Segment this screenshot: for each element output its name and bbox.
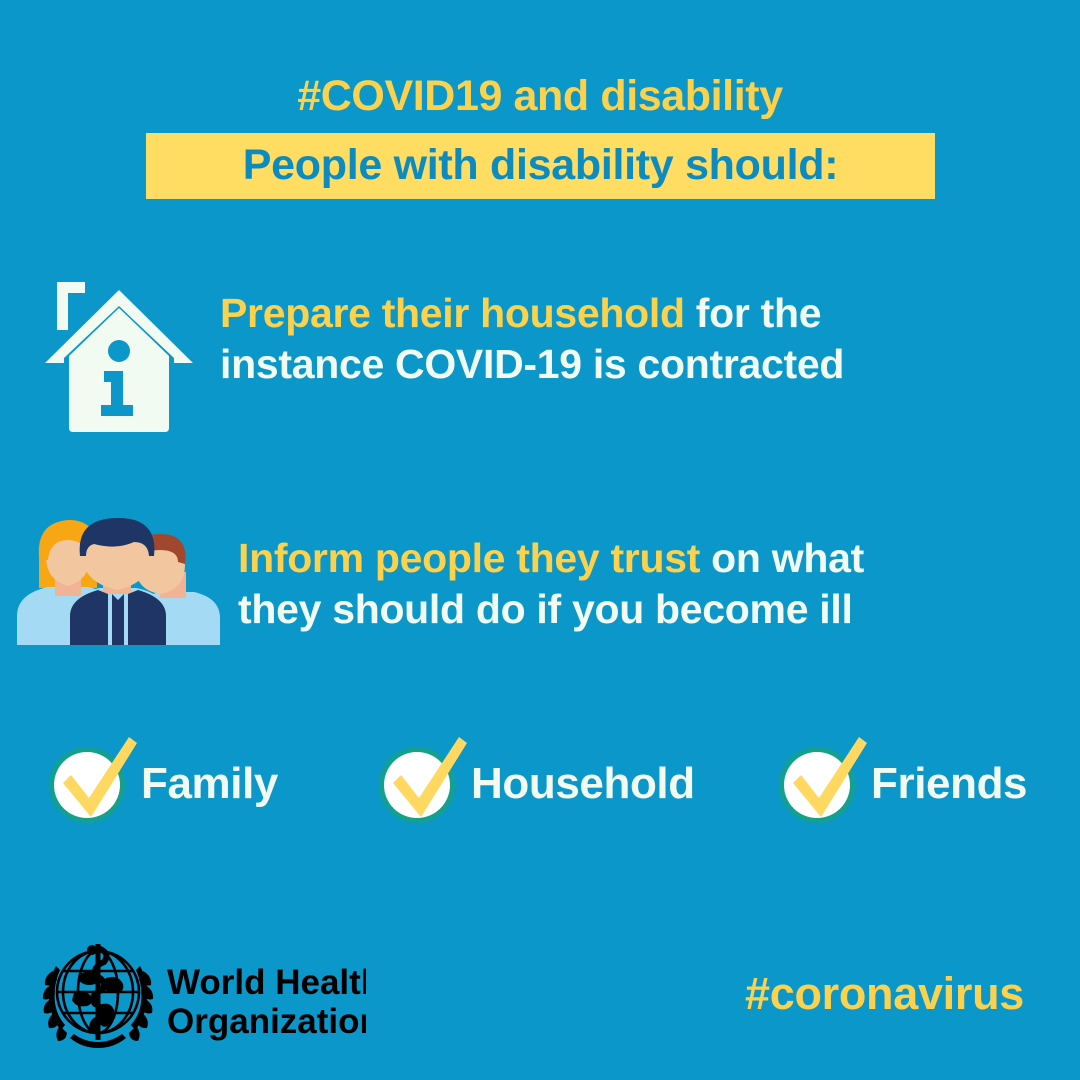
message-rest-household: for the xyxy=(685,290,822,336)
checklist-item-friends: Friends xyxy=(775,728,1027,833)
checklist-label-friends: Friends xyxy=(871,759,1027,809)
message-highlight-household: Prepare their household xyxy=(220,290,685,336)
subtitle-banner: People with disability should: xyxy=(146,133,935,199)
message-text-inform: Inform people they trust on what they sh… xyxy=(238,533,864,635)
check-circle-icon xyxy=(45,735,137,827)
who-logo: World Health Organization xyxy=(36,938,366,1050)
house-info-icon xyxy=(43,268,195,436)
checklist-label-household: Household xyxy=(471,759,695,809)
message-rest-inform: on what xyxy=(700,535,864,581)
who-logo-line1: World Health xyxy=(167,963,366,1002)
hashtag-coronavirus: #coronavirus xyxy=(745,968,1024,1020)
checklist: Family Household Friends xyxy=(0,728,1080,833)
group-of-people-icon xyxy=(8,508,223,645)
checklist-item-household: Household xyxy=(375,728,695,833)
checklist-item-family: Family xyxy=(45,728,278,833)
message-line2-inform: they should do if you become ill xyxy=(238,586,853,632)
subtitle-text: People with disability should: xyxy=(146,133,935,199)
check-circle-icon xyxy=(775,735,867,827)
message-line2-household: instance COVID-19 is contracted xyxy=(220,341,844,387)
checklist-label-family: Family xyxy=(141,759,278,809)
message-text-household: Prepare their household for the instance… xyxy=(220,288,844,390)
who-logo-line2: Organization xyxy=(167,1002,366,1041)
message-highlight-inform: Inform people they trust xyxy=(238,535,700,581)
check-circle-icon xyxy=(375,735,467,827)
poster-canvas: #COVID19 and disability People with disa… xyxy=(0,0,1080,1080)
page-title: #COVID19 and disability xyxy=(0,72,1080,121)
